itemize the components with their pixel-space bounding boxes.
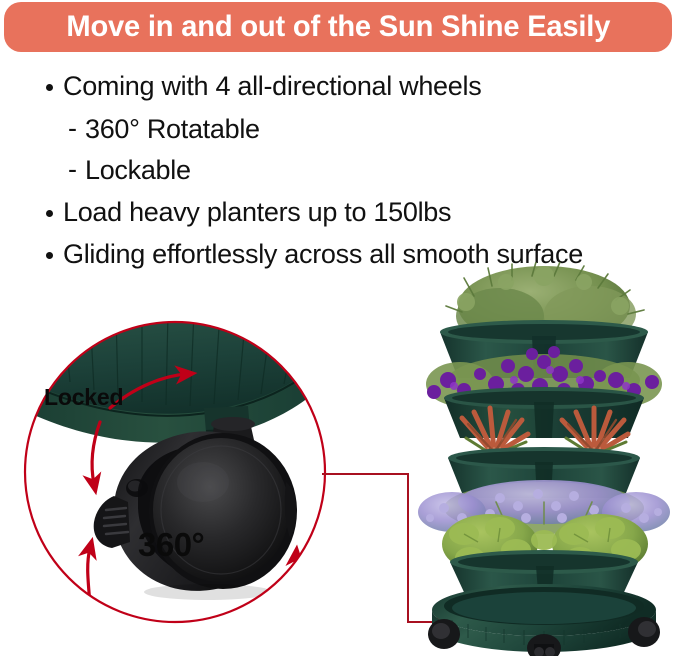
list-item: - Lockable (0, 156, 679, 185)
caster-closeup-illustration (18, 312, 338, 637)
caster-closeup-callout: Locked 360° (18, 312, 338, 637)
list-item: - 360° Rotatable (0, 115, 679, 144)
dash-icon: - (68, 156, 77, 183)
bullet-icon (46, 84, 53, 91)
caster-left (428, 619, 460, 649)
list-item-label: Load heavy planters up to 150lbs (63, 198, 451, 227)
locked-label: Locked (44, 384, 123, 411)
list-item-label: 360° Rotatable (85, 115, 260, 144)
dash-icon: - (68, 115, 77, 142)
bullet-icon (46, 252, 53, 259)
caster-right (628, 617, 660, 647)
caster-scene (18, 312, 338, 637)
feature-list: Coming with 4 all-directional wheels - 3… (0, 72, 679, 283)
list-item-label: Coming with 4 all-directional wheels (63, 72, 481, 101)
list-item: Coming with 4 all-directional wheels (0, 72, 679, 101)
rotation-label: 360° (138, 526, 204, 564)
header-banner: Move in and out of the Sun Shine Easily (4, 2, 672, 52)
rolling-base (428, 584, 660, 656)
page-title: Move in and out of the Sun Shine Easily (66, 12, 610, 42)
stackable-planter-product-image (404, 262, 679, 656)
list-item-label: Lockable (85, 156, 191, 185)
bullet-icon (46, 210, 53, 217)
planter-illustration (404, 262, 679, 656)
list-item: Load heavy planters up to 150lbs (0, 198, 679, 227)
wheel-face (149, 433, 297, 589)
